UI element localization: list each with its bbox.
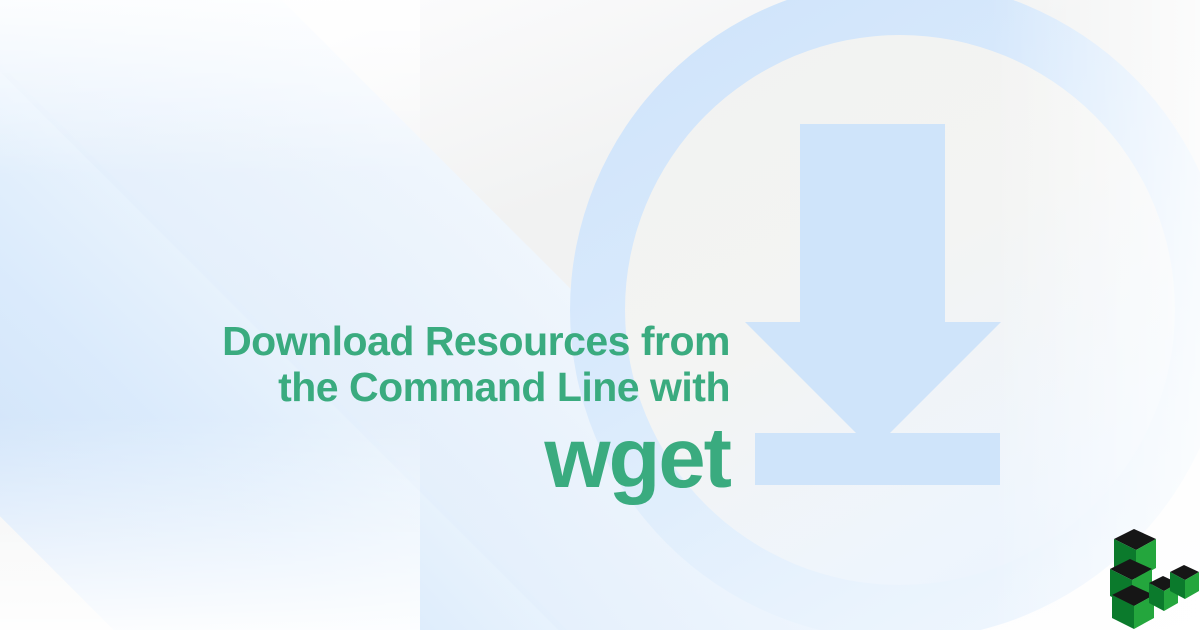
arrow-shaft <box>800 124 945 324</box>
download-arrow-icon <box>700 110 1080 500</box>
page-title: Download Resources from the Command Line… <box>0 318 730 506</box>
headline-line-1: Download Resources from <box>0 318 730 364</box>
cubes-svg <box>1104 515 1200 630</box>
tray-bar <box>755 433 1000 485</box>
headline-emphasis-wget: wget <box>0 412 730 506</box>
headline-line-2: the Command Line with <box>0 364 730 410</box>
banner-canvas: Download Resources from the Command Line… <box>0 0 1200 630</box>
isometric-cubes-logo <box>1104 515 1200 630</box>
background-wash-left <box>0 0 420 630</box>
arrow-head <box>745 322 1001 450</box>
